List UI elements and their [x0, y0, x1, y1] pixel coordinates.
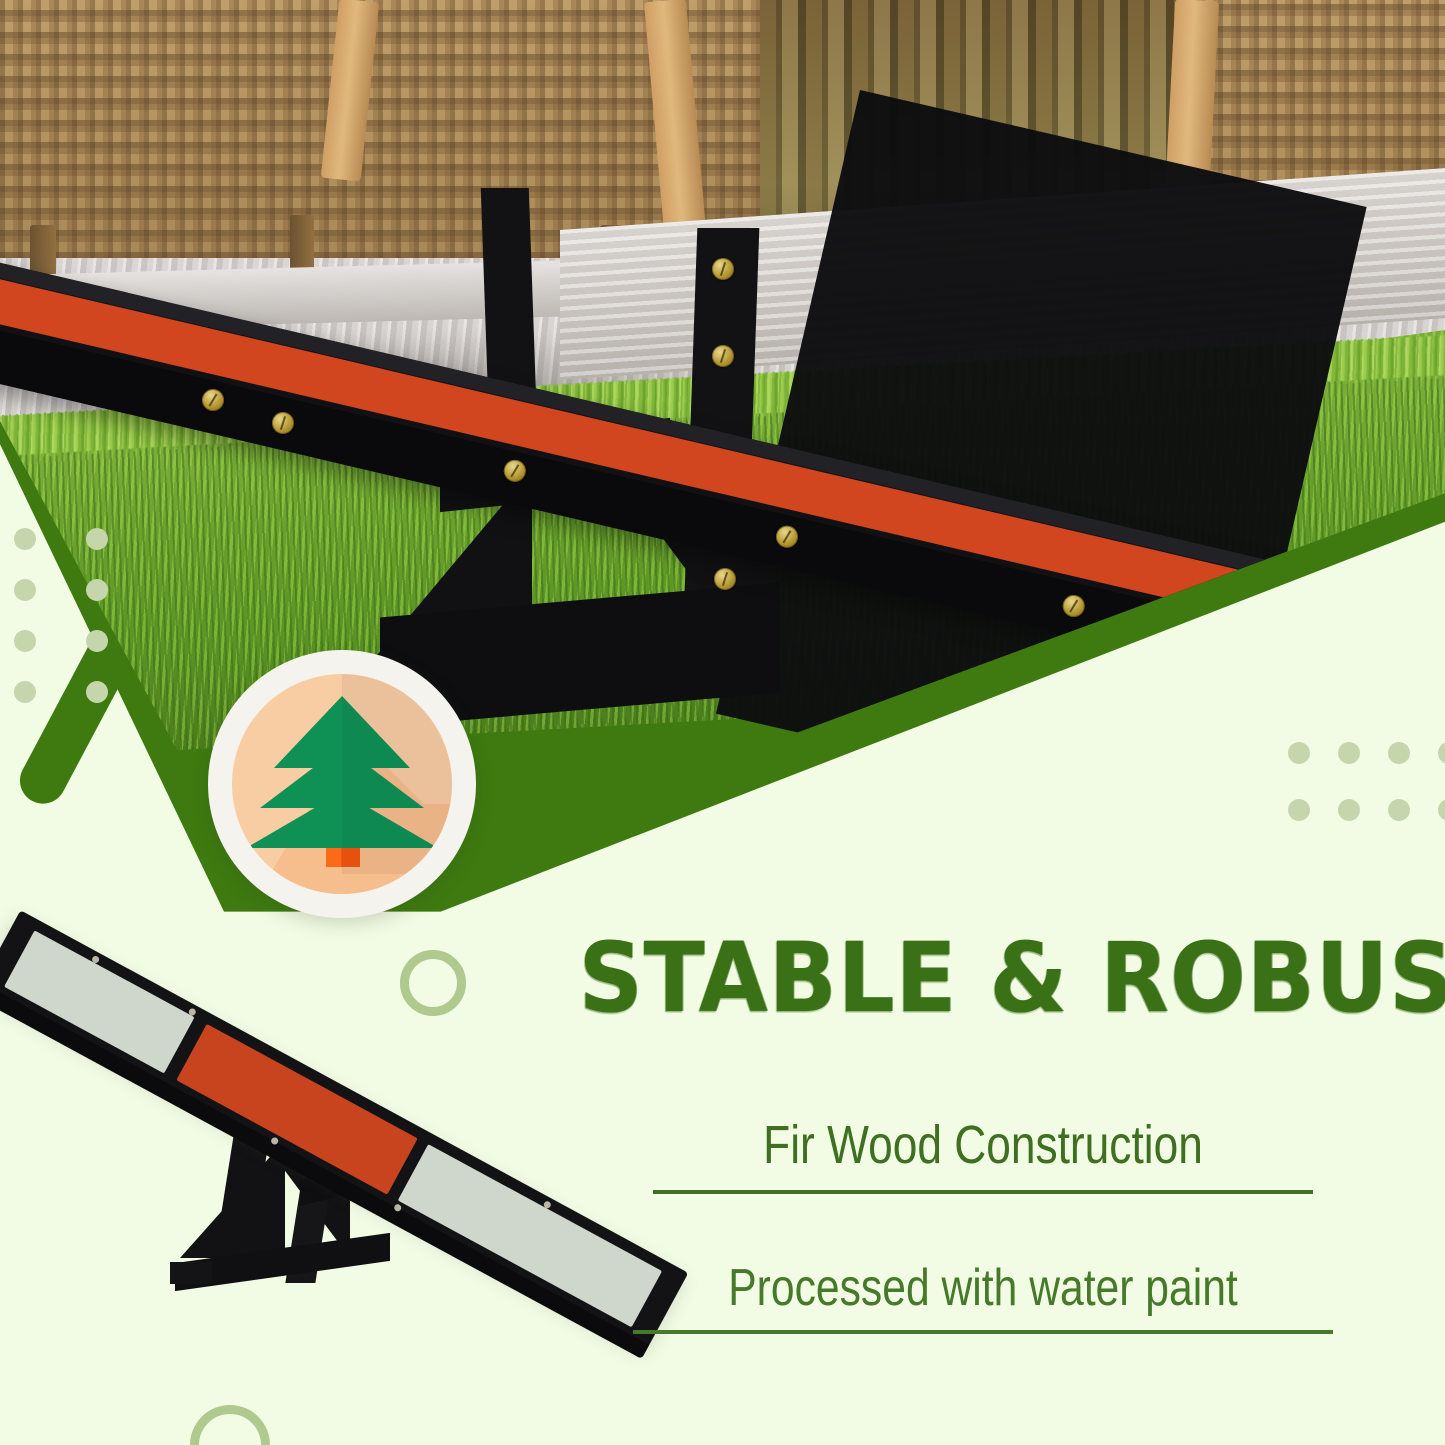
decorative-dots-right	[1288, 742, 1445, 856]
product-foot	[170, 1262, 212, 1284]
fir-wood-badge	[208, 650, 476, 918]
decorative-ring-bottom-left	[190, 1405, 270, 1445]
dot	[1338, 742, 1360, 764]
brass-screw-icon	[712, 258, 734, 280]
decorative-ring-middle	[400, 950, 466, 1016]
promo-banner: STABLE & ROBUST Fir Wood Construction Pr…	[0, 0, 1445, 1445]
dot	[1438, 742, 1445, 764]
feature-line-2: Processed with water paint	[626, 1258, 1339, 1318]
dot	[86, 528, 108, 550]
dot	[1438, 799, 1445, 821]
dot	[1388, 799, 1410, 821]
dot	[86, 681, 108, 703]
dot	[1388, 742, 1410, 764]
brass-screw-icon	[714, 568, 736, 590]
dot	[14, 579, 36, 601]
feature-line-1-underline	[653, 1190, 1313, 1194]
brass-screw-icon	[712, 345, 734, 367]
dot	[86, 630, 108, 652]
dot	[1338, 799, 1360, 821]
pine-tree-icon	[232, 674, 452, 894]
dot	[14, 528, 36, 550]
page-title: STABLE & ROBUST	[578, 930, 1387, 1028]
brass-screw-icon	[1309, 651, 1335, 677]
dot	[86, 579, 108, 601]
copy-block: STABLE & ROBUST Fir Wood Construction Pr…	[548, 930, 1418, 1334]
feature-line-1: Fir Wood Construction	[626, 1114, 1339, 1176]
badge-inner-circle	[232, 674, 452, 894]
feature-line-2-underline	[633, 1330, 1333, 1334]
dot	[1288, 742, 1310, 764]
rattan-chair-left	[0, 0, 760, 258]
decorative-dots-left	[14, 528, 158, 732]
dot	[14, 681, 36, 703]
brass-screw-icon	[272, 412, 294, 434]
dot	[1288, 799, 1310, 821]
tree-shade-right	[342, 674, 452, 874]
dot	[14, 630, 36, 652]
